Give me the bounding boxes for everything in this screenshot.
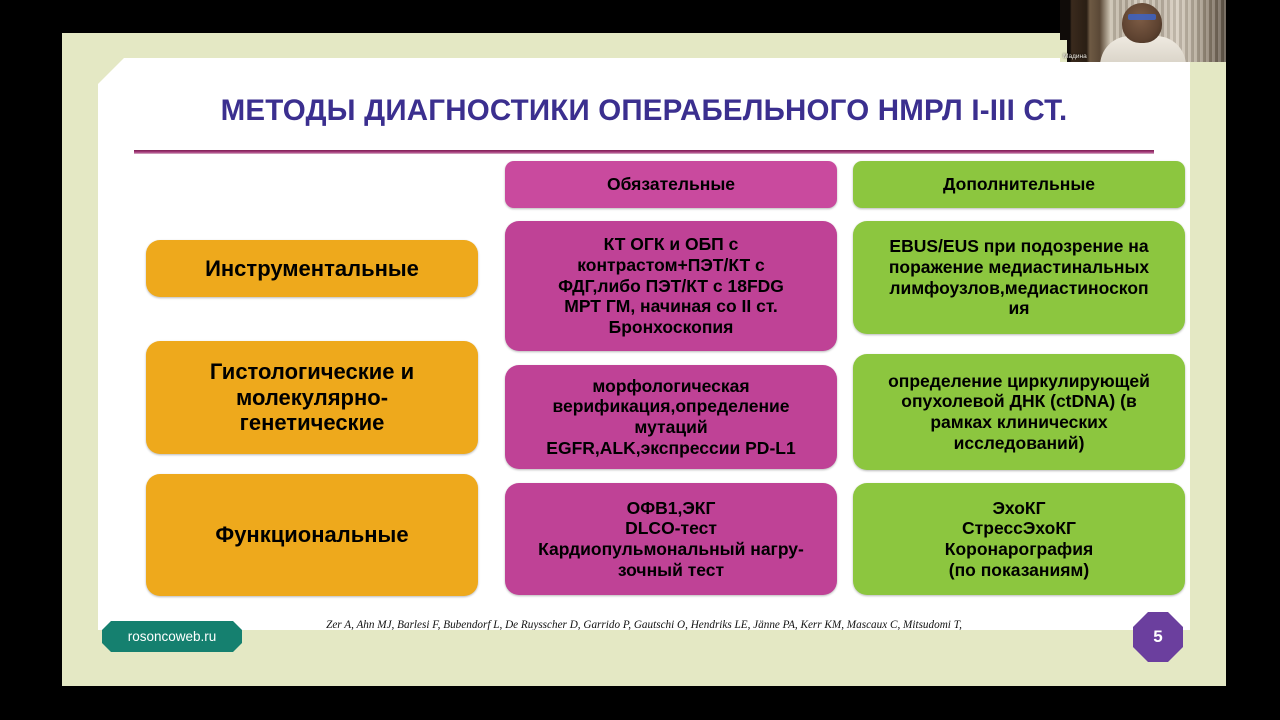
glasses-icon — [1128, 14, 1156, 20]
additional-cell-instrumental: EBUS/EUS при подозрение на поражение мед… — [853, 221, 1185, 334]
header-mandatory-label: Обязательные — [607, 174, 735, 195]
mandatory-cell-1-line-2: контрастом+ПЭТ/КТ с — [513, 255, 829, 276]
header-mandatory: Обязательные — [505, 161, 837, 208]
site-badge-label: rosoncoweb.ru — [128, 629, 217, 644]
additional-cell-2-line-3: рамках клинических — [861, 412, 1177, 433]
mandatory-cell-2-line-2: верификация,определение — [513, 396, 829, 417]
mandatory-cell-1-line-4: МРТ ГМ, начиная со II ст. — [513, 296, 829, 317]
category-histological-molecular: Гистологические и молекулярно- генетичес… — [146, 341, 478, 454]
additional-cell-1-line-1: EBUS/EUS при подозрение на — [861, 236, 1177, 257]
mandatory-cell-3-line-1: ОФВ1,ЭКГ — [513, 498, 829, 519]
citation-block: Zer A, Ahn MJ, Barlesi F, Bubendorf L, D… — [134, 618, 1154, 682]
mandatory-cell-2-line-3: мутаций — [513, 417, 829, 438]
citation-line-3: cancer: ESMO Clinical Practice Guideline… — [134, 650, 1154, 666]
category-functional: Функциональные — [146, 474, 478, 596]
category-functional-label: Функциональные — [215, 522, 408, 548]
category-instrumental-label: Инструментальные — [205, 256, 419, 282]
webcam-thumbnail[interactable]: Мадина — [1060, 0, 1226, 62]
mandatory-cell-3-line-3: Кардиопульмональный нагру- — [513, 539, 829, 560]
citation-line-1: Zer A, Ahn MJ, Barlesi F, Bubendorf L, D… — [134, 618, 1154, 634]
page-title: МЕТОДЫ ДИАГНОСТИКИ ОПЕРАБЕЛЬНОГО НМРЛ I-… — [98, 94, 1190, 128]
additional-cell-functional: ЭхоКГ СтрессЭхоКГ Коронарография (по пок… — [853, 483, 1185, 595]
mandatory-cell-2-line-1: морфологическая — [513, 376, 829, 397]
mandatory-cell-1-line-1: КТ ОГК и ОБП с — [513, 234, 829, 255]
additional-cell-3-line-4: (по показаниям) — [861, 560, 1177, 581]
category-histological-line-2: молекулярно- — [154, 385, 470, 411]
header-additional-label: Дополнительные — [943, 174, 1095, 195]
additional-cell-3-line-2: СтрессЭхоКГ — [861, 518, 1177, 539]
category-histological-line-3: генетические — [154, 410, 470, 436]
title-divider — [134, 150, 1154, 154]
additional-cell-3-line-3: Коронарография — [861, 539, 1177, 560]
additional-cell-1-line-3: лимфоузлов,медиастиноскоп — [861, 278, 1177, 299]
page-number-label: 5 — [1153, 627, 1162, 647]
mandatory-cell-histological: морфологическая верификация,определение … — [505, 365, 837, 469]
slide-frame: МЕТОДЫ ДИАГНОСТИКИ ОПЕРАБЕЛЬНОГО НМРЛ I-… — [62, 33, 1226, 686]
slide-card: МЕТОДЫ ДИАГНОСТИКИ ОПЕРАБЕЛЬНОГО НМРЛ I-… — [98, 58, 1190, 630]
additional-cell-1-line-4: ия — [861, 298, 1177, 319]
mandatory-cell-functional: ОФВ1,ЭКГ DLCO-тест Кардиопульмональный н… — [505, 483, 837, 595]
mandatory-cell-2-line-4: EGFR,ALK,экспрессии PD-L1 — [513, 438, 829, 459]
citation-line-2: Peters S, Rolfo C, Sacher A, Senan S, Ug… — [134, 634, 1154, 650]
header-additional: Дополнительные — [853, 161, 1185, 208]
additional-cell-histological: определение циркулирующей опухолевой ДНК… — [853, 354, 1185, 470]
mandatory-cell-instrumental: КТ ОГК и ОБП с контрастом+ПЭТ/КТ с ФДГ,л… — [505, 221, 837, 351]
additional-cell-2-line-2: опухолевой ДНК (ctDNA) (в — [861, 391, 1177, 412]
additional-cell-2-line-1: определение циркулирующей — [861, 371, 1177, 392]
participant-name-label: Мадина — [1063, 53, 1087, 60]
additional-cell-3-line-1: ЭхоКГ — [861, 498, 1177, 519]
screen-root: МЕТОДЫ ДИАГНОСТИКИ ОПЕРАБЕЛЬНОГО НМРЛ I-… — [0, 0, 1280, 720]
category-histological-line-1: Гистологические и — [154, 359, 470, 385]
additional-cell-1-line-2: поражение медиастинальных — [861, 257, 1177, 278]
category-instrumental: Инструментальные — [146, 240, 478, 297]
additional-cell-2-line-4: исследований) — [861, 433, 1177, 454]
presenter-head — [1122, 3, 1162, 43]
page-number-badge: 5 — [1133, 612, 1183, 662]
site-badge[interactable]: rosoncoweb.ru — [102, 621, 242, 652]
mandatory-cell-3-line-2: DLCO-тест — [513, 518, 829, 539]
mandatory-cell-1-line-5: Бронхоскопия — [513, 317, 829, 338]
mandatory-cell-1-line-3: ФДГ,либо ПЭТ/КТ с 18FDG — [513, 276, 829, 297]
citation-line-4: 10.1016/j.annonc.2025.08.003. Epub ahead… — [134, 666, 1154, 682]
mandatory-cell-3-line-4: зочный тест — [513, 560, 829, 581]
